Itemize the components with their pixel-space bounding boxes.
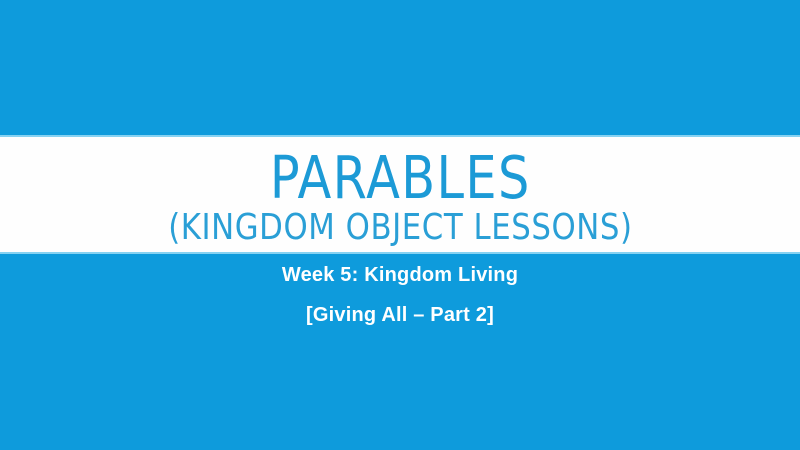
subtitle-week-line: Week 5: Kingdom Living [0,260,800,290]
slide-subtitle-block: Week 5: Kingdom Living [Giving All – Par… [0,256,800,330]
title-band: PARABLES (KINGDOM OBJECT LESSONS) [0,135,800,254]
subtitle-part-line: [Giving All – Part 2] [0,300,800,330]
band-rule-top [0,135,800,137]
presentation-slide: PARABLES (KINGDOM OBJECT LESSONS) Week 5… [0,0,800,450]
slide-title-parenthetical: (KINGDOM OBJECT LESSONS) [168,210,632,246]
band-rule-bottom [0,252,800,254]
slide-title: PARABLES [270,151,531,205]
